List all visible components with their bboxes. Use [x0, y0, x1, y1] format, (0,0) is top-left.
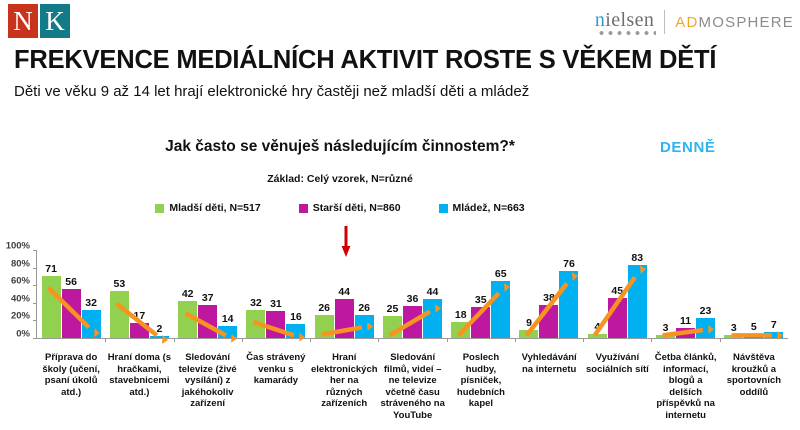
legend-item[interactable]: Mládež, N=663 [439, 202, 525, 214]
bar[interactable]: 36 [403, 306, 422, 338]
x-axis-label: Sledování televize (živé vysílání) z jak… [174, 352, 242, 422]
bar-value-label: 32 [85, 297, 97, 309]
y-axis-tick-mark [33, 338, 36, 339]
bar-group[interactable]: 93876 [515, 250, 583, 338]
bar-group[interactable]: 183565 [447, 250, 515, 338]
y-axis: 0%20%40%60%80%100% [0, 246, 32, 334]
bar-value-label: 3 [731, 322, 737, 334]
nielsen-wordmark: nielsen [595, 10, 654, 35]
legend-swatch [299, 204, 308, 213]
bar[interactable]: 3 [724, 335, 743, 338]
legend-label: Starší děti, N=860 [313, 202, 401, 214]
bar-value-label: 76 [563, 258, 575, 270]
bar-value-label: 35 [475, 294, 487, 306]
bar[interactable]: 16 [286, 324, 305, 338]
bar-value-label: 25 [387, 303, 399, 315]
bar-value-label: 26 [358, 302, 370, 314]
bar-value-label: 56 [65, 276, 77, 288]
bar[interactable]: 71 [42, 276, 61, 338]
bar-value-label: 7 [771, 319, 777, 331]
bar-group[interactable]: 423714 [174, 250, 242, 338]
admosphere-accent-letters: AD [675, 14, 698, 31]
bar-group-bars: 53172 [105, 250, 173, 338]
bar-group-bars: 264426 [310, 250, 378, 338]
bar[interactable]: 5 [744, 334, 763, 338]
bar-value-label: 26 [318, 302, 330, 314]
bar-value-label: 32 [250, 297, 262, 309]
bar[interactable]: 76 [559, 271, 578, 338]
brand-divider [664, 10, 665, 34]
bar-group[interactable]: 31123 [651, 250, 719, 338]
bar-group[interactable]: 715632 [37, 250, 105, 338]
x-axis-label: Četba článků, informací, blogů a delších… [652, 352, 720, 422]
bar-value-label: 45 [611, 285, 623, 297]
y-axis-tick-mark [33, 250, 36, 251]
y-axis-tick-label: 60% [0, 276, 30, 287]
bar[interactable]: 44 [335, 299, 354, 338]
bar[interactable]: 17 [130, 323, 149, 338]
nielsen-accent-letter: n [595, 9, 605, 31]
bar-value-label: 44 [338, 286, 350, 298]
bar-value-label: 14 [222, 313, 234, 325]
bar[interactable]: 4 [588, 334, 607, 338]
bar[interactable]: 56 [62, 289, 81, 338]
bar-groups: 7156325317242371432311626442625364418356… [37, 250, 788, 338]
bar[interactable]: 26 [315, 315, 334, 338]
y-axis-tick-label: 40% [0, 293, 30, 304]
legend-item[interactable]: Mladší děti, N=517 [155, 202, 260, 214]
x-axis-line [36, 338, 788, 339]
bar-value-label: 83 [631, 252, 643, 264]
admosphere-wordmark-rest: MOSPHERE [699, 14, 794, 31]
bar[interactable]: 44 [423, 299, 442, 338]
legend-swatch [155, 204, 164, 213]
bar-value-label: 3 [663, 322, 669, 334]
highlight-down-arrow-icon [341, 226, 351, 258]
bar-value-label: 5 [751, 321, 757, 333]
bar-value-label: 44 [427, 286, 439, 298]
bar-group[interactable]: 53172 [105, 250, 173, 338]
bar[interactable]: 23 [696, 318, 715, 338]
x-axis-label: Sledování filmů, videí – ne televize vče… [379, 352, 447, 422]
bar[interactable]: 3 [656, 335, 675, 338]
x-axis-label: Hraní doma (s hračkami, stavebnicemi atd… [105, 352, 173, 422]
bar-value-label: 18 [455, 309, 467, 321]
y-axis-tick-mark [33, 320, 36, 321]
legend-label: Mladší děti, N=517 [169, 202, 260, 214]
page-title: FREKVENCE MEDIÁLNÍCH AKTIVIT ROSTE S VĚK… [14, 46, 784, 75]
chart-area: 0%20%40%60%80%100% 715632531724237143231… [0, 240, 800, 430]
bar-value-label: 53 [114, 278, 126, 290]
chart-frequency-badge: DENNĚ [660, 139, 780, 156]
bar-group-bars: 44583 [583, 250, 651, 338]
bar[interactable]: 7 [764, 332, 783, 338]
x-axis-label: Příprava do školy (učení, psaní úkolů at… [37, 352, 105, 422]
page-header: N K nielsen ADMOSPHERE [0, 0, 800, 46]
bar-value-label: 2 [156, 323, 162, 335]
bar[interactable]: 37 [198, 305, 217, 338]
chart-base-note: Základ: Celý vzorek, N=různé [0, 173, 680, 185]
nielsen-wordmark-rest: ielsen [605, 9, 654, 31]
bar[interactable]: 14 [218, 326, 237, 338]
bar-value-label: 38 [543, 292, 555, 304]
nielsen-dots-decoration [597, 31, 656, 35]
bar-group-bars: 31123 [651, 250, 719, 338]
bar-value-label: 4 [594, 321, 600, 333]
bar-value-label: 16 [290, 311, 302, 323]
bar[interactable]: 26 [355, 315, 374, 338]
bar-value-label: 42 [182, 288, 194, 300]
bar-value-label: 36 [407, 293, 419, 305]
y-axis-tick-label: 100% [0, 241, 30, 252]
bar-value-label: 9 [526, 317, 532, 329]
chart-title: Jak často se věnuješ následujícím činnos… [0, 138, 680, 156]
bar-group-bars: 323116 [242, 250, 310, 338]
bar[interactable]: 18 [451, 322, 470, 338]
bar[interactable]: 11 [676, 328, 695, 338]
bar-value-label: 17 [134, 310, 146, 322]
bar[interactable]: 45 [608, 298, 627, 338]
bar-value-label: 37 [202, 292, 214, 304]
bar[interactable]: 65 [491, 281, 510, 338]
bar-group-bars: 715632 [37, 250, 105, 338]
bar[interactable]: 42 [178, 301, 197, 338]
bar-value-label: 65 [495, 268, 507, 280]
bar[interactable]: 32 [82, 310, 101, 338]
x-axis-label: Čas strávený venku s kamarády [242, 352, 310, 422]
y-axis-tick-label: 20% [0, 311, 30, 322]
nk-logo: N K [8, 4, 70, 38]
bar-group-bars: 253644 [378, 250, 446, 338]
bar-value-label: 23 [700, 305, 712, 317]
y-axis-tick-mark [33, 303, 36, 304]
nk-logo-right-letter: K [40, 4, 70, 38]
bar[interactable]: 9 [519, 330, 538, 338]
y-axis-tick-label: 0% [0, 329, 30, 340]
bar-value-label: 71 [45, 263, 57, 275]
bar-group-bars: 183565 [447, 250, 515, 338]
bar[interactable]: 25 [383, 316, 402, 338]
bar[interactable]: 35 [471, 307, 490, 338]
y-axis-tick-label: 80% [0, 258, 30, 269]
x-axis-label: Vyhledávání na internetu [515, 352, 583, 422]
bar[interactable]: 83 [628, 265, 647, 338]
x-axis-labels: Příprava do školy (učení, psaní úkolů at… [37, 352, 788, 422]
bar[interactable]: 31 [266, 311, 285, 338]
bar[interactable]: 2 [150, 336, 169, 338]
bar[interactable]: 38 [539, 305, 558, 338]
bar-group[interactable]: 357 [720, 250, 788, 338]
bar-group-bars: 93876 [515, 250, 583, 338]
legend-swatch [439, 204, 448, 213]
x-axis-label: Návštěva kroužků a sportovních oddílů [720, 352, 788, 422]
bar-group[interactable]: 264426 [310, 250, 378, 338]
y-axis-tick-mark [33, 268, 36, 269]
nk-logo-left-letter: N [8, 4, 38, 38]
x-axis-label: Poslech hudby, písniček, hudebních kapel [447, 352, 515, 422]
x-axis-label: Využívání sociálních sítí [583, 352, 651, 422]
bar-value-label: 31 [270, 298, 282, 310]
bar-value-label: 11 [680, 315, 691, 327]
bar[interactable]: 32 [246, 310, 265, 338]
admosphere-wordmark: ADMOSPHERE [675, 15, 794, 30]
bar-group-bars: 423714 [174, 250, 242, 338]
bar-group[interactable]: 253644 [378, 250, 446, 338]
y-axis-tick-mark [33, 285, 36, 286]
bar[interactable]: 53 [110, 291, 129, 338]
x-axis-label: Hraní elektronických her na různých zaří… [310, 352, 379, 422]
legend-item[interactable]: Starší děti, N=860 [299, 202, 401, 214]
bar-group[interactable]: 44583 [583, 250, 651, 338]
nielsen-admosphere-logo: nielsen ADMOSPHERE [595, 8, 794, 36]
page-subtitle: Děti ve věku 9 až 14 let hrají elektroni… [14, 83, 784, 100]
legend-label: Mládež, N=663 [453, 202, 525, 214]
bar-group[interactable]: 323116 [242, 250, 310, 338]
chart-legend: Mladší děti, N=517Starší děti, N=860Mlád… [0, 202, 680, 214]
bar-group-bars: 357 [720, 250, 788, 338]
